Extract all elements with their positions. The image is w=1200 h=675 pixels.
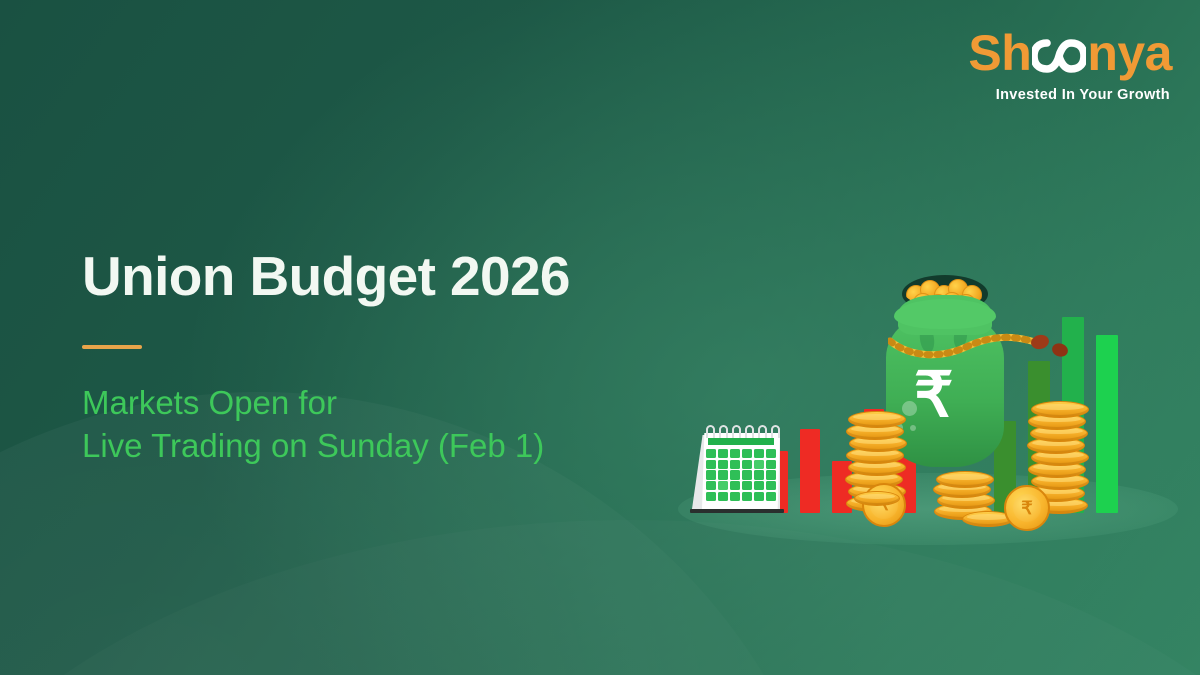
calendar-ring-icon xyxy=(706,425,715,438)
calendar-header-band xyxy=(708,438,774,445)
hero-illustration: ₹ ₹ xyxy=(640,255,1200,555)
calendar-ring-icon xyxy=(732,425,741,438)
coin-front: ₹ xyxy=(1004,485,1050,531)
coin xyxy=(936,471,994,488)
money-bag-rope-icon xyxy=(888,323,1078,363)
title-divider xyxy=(82,345,142,349)
infinity-icon xyxy=(1032,39,1086,73)
brand-logo[interactable]: Sh nya Invested In Your Growth xyxy=(968,28,1172,103)
chart-bar xyxy=(1096,335,1118,513)
page-subtitle: Markets Open for Live Trading on Sunday … xyxy=(82,381,544,467)
rupee-symbol-icon: ₹ xyxy=(914,365,953,427)
coin xyxy=(848,411,906,428)
brand-tagline: Invested In Your Growth xyxy=(968,87,1170,103)
calendar-ring-icon xyxy=(771,425,780,438)
brand-logo-wordmark: Sh nya xyxy=(968,28,1172,78)
coin-stack-right: ₹ xyxy=(1026,397,1098,517)
banner-root: Sh nya Invested In Your Growth Union Bud… xyxy=(0,0,1200,675)
coin xyxy=(854,491,900,506)
calendar-ring-icon xyxy=(719,425,728,438)
page-subtitle-line-2: Live Trading on Sunday (Feb 1) xyxy=(82,424,544,467)
coin-group-bag-base xyxy=(854,491,900,506)
page-title: Union Budget 2026 xyxy=(82,247,570,305)
calendar-base-shadow xyxy=(690,509,784,513)
brand-logo-text-prefix: Sh xyxy=(968,28,1031,78)
brand-logo-text-suffix: nya xyxy=(1087,28,1172,78)
calendar-ring-icon xyxy=(758,425,767,438)
coin xyxy=(1031,401,1089,418)
chart-bar xyxy=(800,429,820,513)
coin-rupee-icon: ₹ xyxy=(1013,494,1042,523)
calendar-date-grid xyxy=(706,449,776,501)
calendar-ring-icon xyxy=(745,425,754,438)
page-subtitle-line-1: Markets Open for xyxy=(82,381,544,424)
desk-calendar xyxy=(688,425,784,513)
